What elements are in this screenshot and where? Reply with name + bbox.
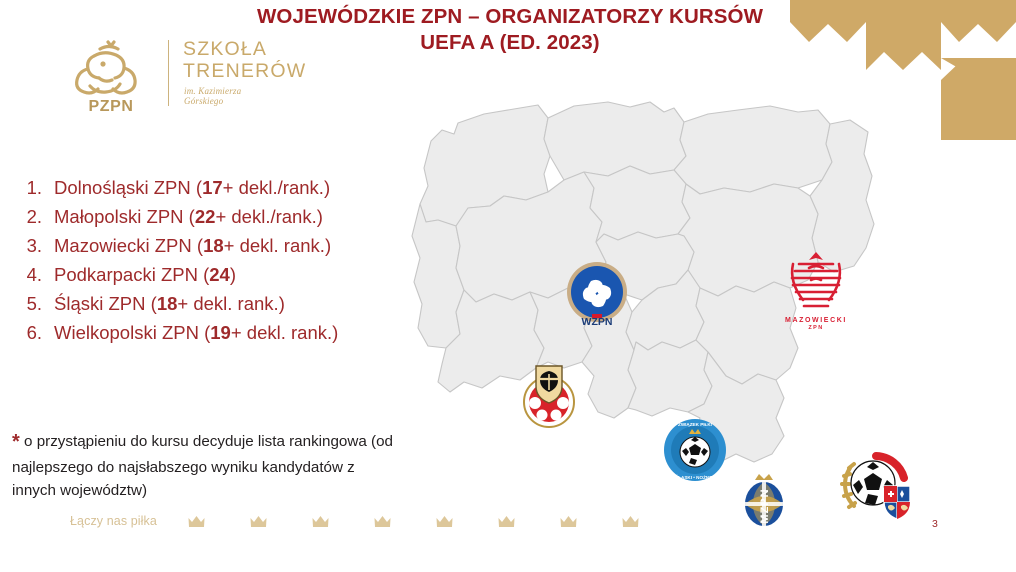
list-item-text: Dolnośląski ZPN (17+ dekl./rank.) — [54, 176, 428, 200]
page-number: 3 — [932, 518, 938, 530]
list-item: 5. Śląski ZPN (18+ dekl. rank.) — [8, 292, 428, 316]
list-item-value: 17 — [202, 177, 223, 198]
logo-brand: PZPN — [70, 98, 152, 116]
title-line-2: UEFA A (ED. 2023) — [205, 30, 815, 56]
footer-crown-row — [188, 512, 638, 534]
crown-icon — [560, 515, 577, 528]
logo-divider — [168, 40, 169, 106]
poland-map: WZPN MAZ — [398, 96, 1016, 556]
title-line-1: WOJEWÓDZKIE ZPN – ORGANIZATORZY KURSÓW — [205, 4, 815, 30]
footnote-asterisk: * — [12, 431, 20, 453]
list-item-number: 6. — [8, 321, 54, 345]
pzpn-szkola-trenerow-logo: PZPN SZKOŁA TRENERÓW im. Kazimierza Górs… — [64, 36, 279, 116]
crown-icon — [436, 515, 453, 528]
badge-dolnoslaski — [518, 362, 580, 430]
crown-icon — [374, 515, 391, 528]
pzpn-eagle-icon — [64, 36, 154, 98]
list-item-text: Małopolski ZPN (22+ dekl./rank.) — [54, 205, 428, 229]
list-item-number: 3. — [8, 234, 54, 258]
badge-caption-wzpn: WZPN — [582, 316, 613, 328]
page-title: WOJEWÓDZKIE ZPN – ORGANIZATORZY KURSÓW U… — [205, 4, 815, 56]
list-item-name: Wielkopolski ZPN — [54, 322, 199, 343]
list-item-name: Śląski ZPN — [54, 293, 146, 314]
badge-podkarpacki — [838, 450, 914, 522]
list-item: 6. Wielkopolski ZPN (19+ dekl. rank.) — [8, 321, 428, 345]
crown-icon — [312, 515, 329, 528]
footer-slogan: Łączy nas piłka — [70, 514, 157, 528]
badge-arc-text-mazowiecki: MAZOWIECKI — [785, 317, 847, 324]
badge-slaski: ZWIĄZEK PIŁKI ŚLĄSKI • NOŻNEJ — [663, 418, 727, 482]
list-item-text: Mazowiecki ZPN (18+ dekl. rank.) — [54, 234, 428, 258]
crown-icon — [498, 515, 515, 528]
svg-text:ZPN: ZPN — [808, 325, 823, 330]
list-item: 4. Podkarpacki ZPN (24) — [8, 263, 428, 287]
crown-icon — [250, 515, 267, 528]
list-item: 1. Dolnośląski ZPN (17+ dekl./rank.) — [8, 176, 428, 200]
list-item-name: Dolnośląski ZPN — [54, 177, 191, 198]
footnote-text: o przystąpieniu do kursu decyduje lista … — [12, 433, 393, 499]
list-item-number: 5. — [8, 292, 54, 316]
list-item-value: 18 — [203, 235, 224, 256]
footer: Łączy nas piłka — [70, 512, 630, 536]
voivodeship-list: 1. Dolnośląski ZPN (17+ dekl./rank.) 2. … — [8, 176, 428, 349]
slide: WOJEWÓDZKIE ZPN – ORGANIZATORZY KURSÓW U… — [0, 0, 1016, 572]
list-item-number: 1. — [8, 176, 54, 200]
list-item-name: Małopolski ZPN — [54, 206, 184, 227]
list-item: 2. Małopolski ZPN (22+ dekl./rank.) — [8, 205, 428, 229]
list-item-name: Podkarpacki ZPN — [54, 264, 198, 285]
list-item-suffix: + dekl. rank. — [231, 322, 332, 343]
list-item-text: Śląski ZPN (18+ dekl. rank.) — [54, 292, 428, 316]
list-item-value: 18 — [157, 293, 178, 314]
list-item-value: 24 — [209, 264, 230, 285]
logo-line-1: SZKOŁA — [183, 38, 267, 61]
list-item-number: 2. — [8, 205, 54, 229]
badge-mark-mzpn: MZPN — [759, 488, 771, 523]
svg-text:ŚLĄSKI • NOŻNEJ: ŚLĄSKI • NOŻNEJ — [675, 474, 715, 480]
list-item-name: Mazowiecki ZPN — [54, 235, 192, 256]
list-item-suffix: + dekl./rank. — [223, 177, 324, 198]
crown-icon — [188, 515, 205, 528]
list-item-suffix: + dekl./rank. — [215, 206, 316, 227]
list-item-suffix: + dekl. rank. — [177, 293, 278, 314]
footnote: * o przystąpieniu do kursu decyduje list… — [12, 428, 402, 502]
list-item: 3. Mazowiecki ZPN (18+ dekl. rank.) — [8, 234, 428, 258]
logo-line-3: im. Kazimierza Górskiego — [184, 86, 279, 106]
crown-icon — [622, 515, 639, 528]
badge-mazowiecki: MAZOWIECKI ZPN — [773, 246, 859, 330]
logo-line-2: TRENERÓW — [183, 60, 306, 83]
list-item-value: 19 — [210, 322, 231, 343]
list-item-text: Wielkopolski ZPN (19+ dekl. rank.) — [54, 321, 428, 345]
list-item-value: 22 — [195, 206, 216, 227]
badge-wielkopolski: WZPN — [566, 253, 628, 331]
list-item-number: 4. — [8, 263, 54, 287]
list-item-text: Podkarpacki ZPN (24) — [54, 263, 428, 287]
list-item-suffix: + dekl. rank. — [224, 235, 325, 256]
svg-text:ZWIĄZEK PIŁKI: ZWIĄZEK PIŁKI — [678, 422, 712, 427]
badge-malopolski: MZPN — [735, 470, 793, 532]
